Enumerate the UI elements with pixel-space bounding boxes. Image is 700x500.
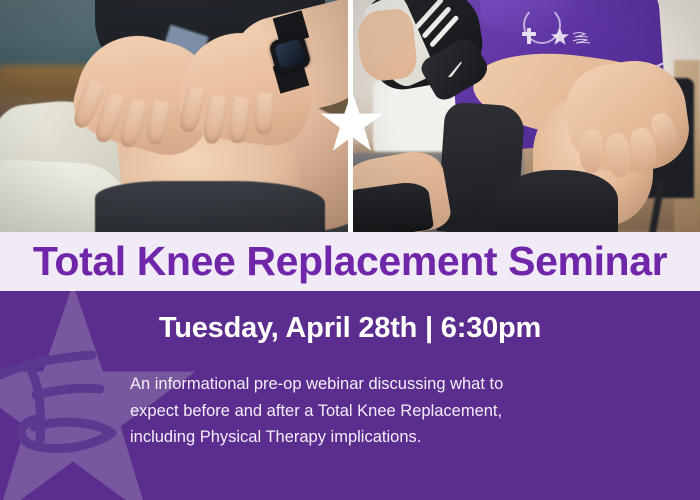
title-band: Total Knee Replacement Seminar — [0, 232, 700, 291]
patient-shin-covering — [95, 181, 325, 232]
page-title: Total Knee Replacement Seminar — [33, 241, 667, 282]
white-star-icon — [320, 90, 384, 154]
description-line-2: expect before and after a Total Knee Rep… — [130, 398, 570, 425]
knee-exam-photo — [0, 0, 348, 232]
photo-strip — [0, 0, 700, 232]
patient-sock — [353, 180, 434, 232]
description-line-1: An informational pre-op webinar discussi… — [130, 371, 570, 398]
description-line-3: including Physical Therapy implications. — [130, 424, 570, 451]
patient-calf-sleeve — [498, 170, 618, 232]
details-content: Tuesday, April 28th | 6:30pm An informat… — [0, 291, 700, 451]
polo-star-logo-icon — [551, 28, 613, 48]
event-datetime: Tuesday, April 28th | 6:30pm — [0, 313, 700, 345]
event-description: An informational pre-op webinar discussi… — [130, 371, 570, 451]
therapist-stretch-photo — [353, 0, 700, 232]
seminar-flyer: Total Knee Replacement Seminar Tuesday, … — [0, 0, 700, 500]
details-band: Tuesday, April 28th | 6:30pm An informat… — [0, 291, 700, 500]
cross-pendant-icon — [527, 28, 531, 44]
